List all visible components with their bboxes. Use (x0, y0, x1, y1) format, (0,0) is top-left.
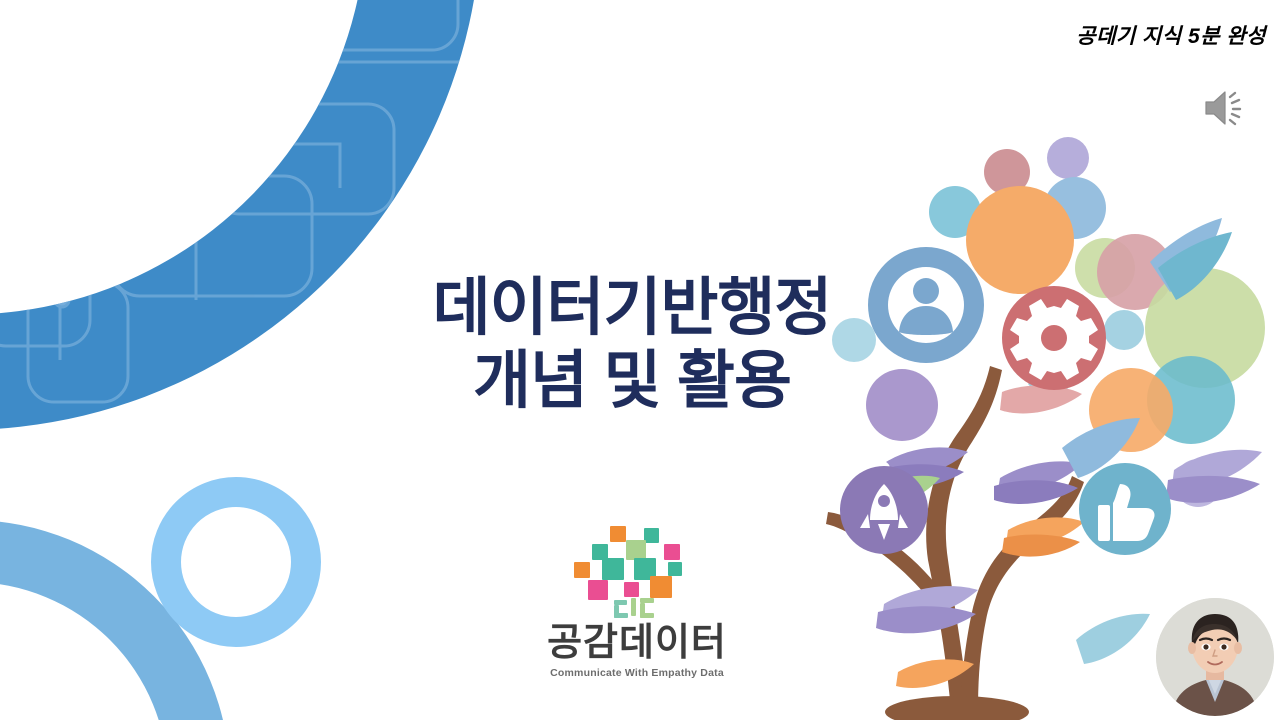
leaf-pink-1 (1000, 385, 1082, 413)
bubble-teal-md (1147, 356, 1235, 444)
bubble-orange-lg (966, 186, 1074, 294)
leaf-lavender-2 (994, 480, 1078, 504)
bubble-cyan-xs (1104, 310, 1144, 350)
presentation-slide: 공데기 지식 5분 완성 데이터기반행정 개념 및 활용 (0, 0, 1280, 720)
leaf-lavender-1 (998, 461, 1082, 491)
leaf-purple-2 (880, 464, 964, 488)
leaf-cyan-3 (1158, 232, 1232, 300)
brand-logo: 공감데이터 Communicate With Empathy Data (512, 526, 762, 679)
leaf-purple-bottom (882, 586, 978, 620)
bubble-lavender-bottom (1174, 459, 1222, 507)
bubble-green-sm (1075, 238, 1135, 298)
tree-trunk (826, 366, 1084, 720)
bubble-green-lg (1145, 268, 1265, 388)
title-line-1: 데이터기반행정 (352, 272, 912, 345)
gear-icon-circle (1002, 286, 1106, 390)
leaf-lavender-3 (1172, 450, 1262, 488)
bubble-pink-sm (984, 149, 1030, 195)
leaf-green-1 (858, 476, 940, 511)
rocket-icon-circle (840, 466, 928, 554)
speaker-icon[interactable] (1194, 80, 1250, 136)
gear-icon (1010, 299, 1098, 380)
slide-title: 데이터기반행정 개념 및 활용 (352, 272, 912, 418)
top-left-arc (0, 0, 600, 510)
thumbs-up-icon (1098, 484, 1155, 541)
thumbs-up-icon-circle (1079, 463, 1171, 555)
bubble-cyan-sm (929, 186, 981, 238)
title-line-2: 개념 및 활용 (352, 345, 912, 418)
leaf-purple-bottom-2 (876, 606, 976, 633)
leaf-orange-bottom (896, 659, 974, 688)
leaf-orange-2 (1002, 535, 1080, 557)
bubble-lavender-sm (1047, 137, 1089, 179)
leaf-cyan-2 (1028, 336, 1098, 404)
leaf-purple-1 (886, 447, 968, 477)
header-tagline: 공데기 지식 5분 완성 (1076, 20, 1266, 50)
bubble-lightblue (1044, 177, 1106, 239)
rocket-icon (860, 484, 908, 540)
bubble-orange-md (1089, 368, 1173, 452)
leaf-blue-2 (1062, 418, 1140, 478)
leaf-orange-1 (1006, 517, 1084, 546)
logo-name: 공감데이터 (512, 624, 762, 662)
bubble-pink-md (1097, 234, 1173, 310)
logo-tree-mark (572, 526, 702, 618)
bottom-left-ring (166, 492, 306, 632)
leaf-lavender-4 (1166, 476, 1260, 503)
presenter-avatar (1156, 598, 1274, 716)
logo-tagline: Communicate With Empathy Data (512, 667, 762, 679)
leaf-cyan-1 (1022, 324, 1092, 398)
leaf-blue-1 (1150, 218, 1222, 292)
bottom-left-arc (0, 520, 230, 720)
leaf-green-right (1076, 614, 1150, 664)
